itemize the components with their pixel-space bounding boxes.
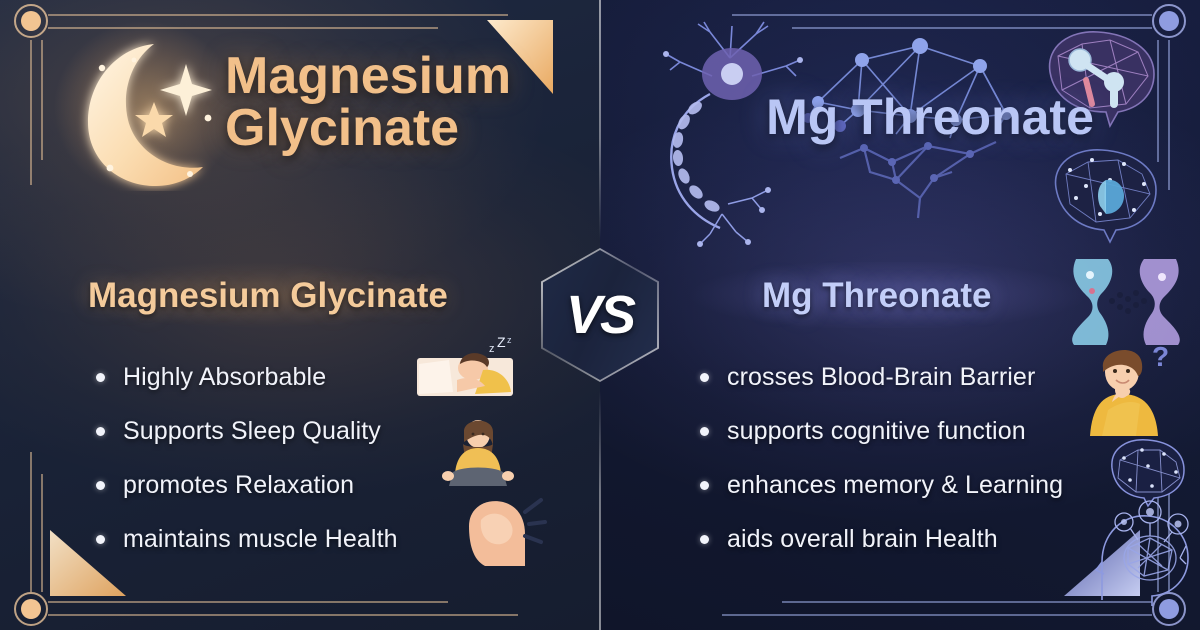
corner-line bbox=[41, 474, 43, 592]
list-item-label: supports cognitive function bbox=[727, 417, 1026, 446]
corner-line bbox=[30, 40, 32, 185]
corner-line bbox=[48, 614, 518, 616]
bullet-dot-icon bbox=[96, 373, 105, 382]
corner-line bbox=[732, 14, 1152, 16]
bullet-dot-icon bbox=[700, 481, 709, 490]
svg-text:?: ? bbox=[1152, 341, 1169, 372]
sleeping-person-icon: z Z z bbox=[413, 336, 517, 398]
corner-line bbox=[1157, 40, 1159, 162]
svg-text:z: z bbox=[507, 336, 512, 345]
list-item-label: aids overall brain Health bbox=[727, 525, 998, 554]
bullet-dot-icon bbox=[700, 373, 709, 382]
left-subtitle: Magnesium Glycinate bbox=[88, 278, 448, 313]
bullet-dot-icon bbox=[700, 535, 709, 544]
corner-line bbox=[1168, 40, 1170, 190]
left-header-title-line2: Glycinate bbox=[225, 102, 555, 154]
corner-node-icon bbox=[14, 592, 48, 626]
corner-decoration-top-left bbox=[0, 0, 150, 190]
corner-line bbox=[722, 614, 1152, 616]
list-item: aids overall brain Health bbox=[700, 512, 1150, 566]
corner-line bbox=[48, 601, 448, 603]
left-header-title-line1: Magnesium bbox=[225, 50, 555, 102]
head-brain-gears-icon bbox=[1094, 500, 1200, 608]
svg-text:Z: Z bbox=[497, 336, 506, 350]
bullet-dot-icon bbox=[96, 481, 105, 490]
list-item-label: Supports Sleep Quality bbox=[123, 417, 381, 446]
vs-label: VS bbox=[566, 284, 634, 346]
list-item-label: maintains muscle Health bbox=[123, 525, 398, 554]
list-item-label: promotes Relaxation bbox=[123, 471, 354, 500]
bullet-dot-icon bbox=[96, 535, 105, 544]
flexed-biceps-icon bbox=[463, 490, 547, 572]
comparison-infographic: Magnesium Glycinate Magnesium Glycinate … bbox=[0, 0, 1200, 630]
list-item-label: Highly Absorbable bbox=[123, 363, 326, 392]
corner-line bbox=[30, 452, 32, 592]
left-header-title: Magnesium Glycinate bbox=[225, 50, 555, 154]
right-subtitle: Mg Threonate bbox=[762, 278, 991, 313]
thinking-person-icon: ? bbox=[1082, 338, 1182, 438]
corner-line bbox=[41, 40, 43, 160]
corner-node-icon bbox=[14, 4, 48, 38]
bullet-dot-icon bbox=[96, 427, 105, 436]
corner-node-icon bbox=[1152, 4, 1186, 38]
list-item: enhances memory & Learning bbox=[700, 458, 1150, 512]
list-item: maintains muscle Health bbox=[96, 512, 526, 566]
right-header-title: Mg Threonate bbox=[720, 92, 1140, 142]
svg-text:z: z bbox=[489, 343, 495, 355]
list-item-label: crosses Blood-Brain Barrier bbox=[727, 363, 1035, 392]
bullet-dot-icon bbox=[700, 427, 709, 436]
corner-line bbox=[48, 14, 508, 16]
vs-badge: VS bbox=[541, 248, 659, 382]
corner-line bbox=[48, 27, 438, 29]
brain-outline-small-icon bbox=[1100, 432, 1192, 508]
meditating-person-icon bbox=[437, 412, 519, 500]
list-item-label: enhances memory & Learning bbox=[727, 471, 1063, 500]
corner-line bbox=[792, 27, 1152, 29]
